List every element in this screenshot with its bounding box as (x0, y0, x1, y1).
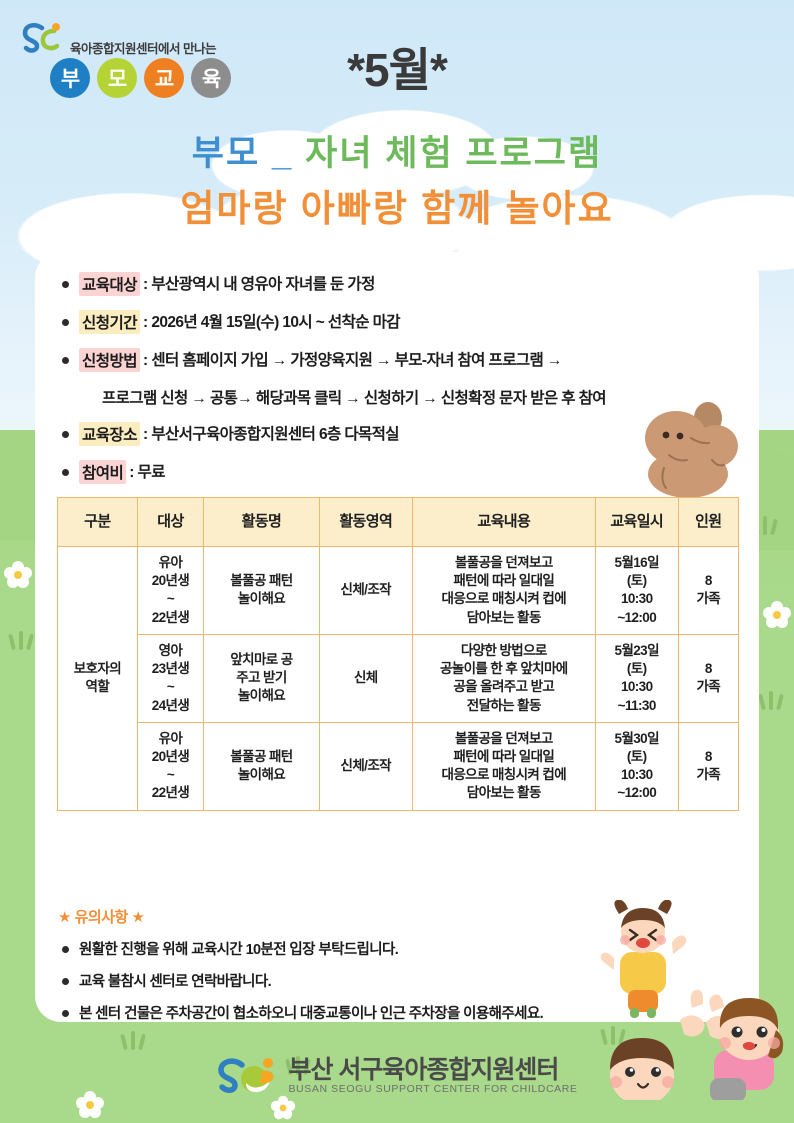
info-item-fee: 참여비 : 무료 (58, 460, 748, 484)
month-title: *5월* (0, 34, 794, 100)
th-target: 대상 (137, 498, 203, 547)
td-capacity: 8가족 (678, 547, 738, 635)
info-value: : 2026년 4월 15일(수) 10시 ~ 선착순 마감 (143, 310, 400, 332)
title-part-child: 자녀 체험 프로그램 (305, 134, 602, 173)
grass-tuft-icon (758, 690, 786, 712)
note-text: 교육 불참시 센터로 연락바랍니다. (79, 970, 271, 991)
td-activity: 볼풀공 패턴놀이해요 (204, 547, 320, 635)
th-capacity: 인원 (678, 498, 738, 547)
flower-icon (762, 600, 792, 630)
table-header-row: 구분 대상 활동명 활동영역 교육내용 교육일시 인원 (58, 498, 739, 547)
bullet-dot (62, 978, 69, 985)
bullet-dot (62, 469, 69, 476)
info-item-method: 신청방법 : 센터 홈페이지 가입 → 가정양육지원 → 부모-자녀 참여 프로… (58, 348, 748, 372)
td-group-label: 보호자의역할 (58, 547, 138, 811)
table-row: 영아23년생~24년생 앞치마로 공주고 받기놀이해요 신체 다양한 방법으로공… (58, 634, 739, 722)
program-title-line2: 엄마랑 아빠랑 함께 놀아요 (0, 178, 794, 232)
td-content: 볼풀공을 던져보고패턴에 따라 일대일대응으로 매칭시켜 컵에담아보는 활동 (412, 722, 595, 810)
info-label: 신청방법 (79, 348, 140, 372)
info-method-continuation: 프로그램 신청 → 공통→ 해당과목 클릭 → 신청하기 → 신청확정 문자 받… (102, 386, 748, 408)
info-value: : 무료 (129, 460, 165, 482)
td-activity: 앞치마로 공주고 받기놀이해요 (204, 634, 320, 722)
grass-tuft-icon (8, 630, 36, 652)
footer-sc-logo-icon (216, 1055, 278, 1097)
td-content: 다양한 방법으로공놀이를 한 후 앞치마에공을 올려주고 받고전달하는 활동 (412, 634, 595, 722)
td-capacity: 8가족 (678, 634, 738, 722)
program-title-line1: 부모 _ 자녀 체험 프로그램 (0, 125, 794, 176)
bullet-dot (62, 357, 69, 364)
td-area: 신체 (319, 634, 412, 722)
td-area: 신체/조작 (319, 547, 412, 635)
info-item-target: 교육대상 : 부산광역시 내 영유아 자녀를 둔 가정 (58, 272, 748, 296)
td-area: 신체/조작 (319, 722, 412, 810)
td-target: 유아20년생~22년생 (137, 547, 203, 635)
flower-icon (3, 560, 33, 590)
info-value: : 부산광역시 내 영유아 자녀를 둔 가정 (143, 272, 375, 294)
th-category: 구분 (58, 498, 138, 547)
note-text: 원활한 진행을 위해 교육시간 10분전 입장 부탁드립니다. (79, 938, 398, 959)
info-value: : 센터 홈페이지 가입 → 가정양육지원 → 부모-자녀 참여 프로그램 → (143, 348, 562, 370)
td-target: 유아20년생~22년생 (137, 722, 203, 810)
table-row: 유아20년생~22년생 볼풀공 패턴놀이해요 신체/조작 볼풀공을 던져보고패턴… (58, 722, 739, 810)
info-label: 교육대상 (79, 272, 140, 296)
program-table: 구분 대상 활동명 활동영역 교육내용 교육일시 인원 보호자의역할 유아20년… (57, 497, 739, 811)
th-datetime: 교육일시 (595, 498, 678, 547)
info-item-place: 교육장소 : 부산서구육아종합지원센터 6층 다목적실 (58, 422, 748, 446)
title-part-parent: 부모 _ (192, 134, 305, 173)
td-capacity: 8가족 (678, 722, 738, 810)
th-area: 활동영역 (319, 498, 412, 547)
flower-icon (270, 1095, 296, 1121)
footer-logo: 부산 서구육아종합지원센터 BUSAN SEOGU SUPPORT CENTER… (0, 1055, 794, 1097)
bullet-dot (62, 319, 69, 326)
th-content: 교육내용 (412, 498, 595, 547)
td-datetime: 5월23일(토)10:30~11:30 (595, 634, 678, 722)
info-value: : 부산서구육아종합지원센터 6층 다목적실 (143, 422, 399, 444)
bullet-dot (62, 281, 69, 288)
td-target: 영아23년생~24년생 (137, 634, 203, 722)
td-datetime: 5월30일(토)10:30~12:00 (595, 722, 678, 810)
info-item-period: 신청기간 : 2026년 4월 15일(수) 10시 ~ 선착순 마감 (58, 310, 748, 334)
td-content: 볼풀공을 던져보고패턴에 따라 일대일대응으로 매칭시켜 컵에담아보는 활동 (412, 547, 595, 635)
table-row: 보호자의역할 유아20년생~22년생 볼풀공 패턴놀이해요 신체/조작 볼풀공을… (58, 547, 739, 635)
info-label: 신청기간 (79, 310, 140, 334)
note-text: 본 센터 건물은 주차공간이 협소하오니 대중교통이나 인근 주차장을 이용해주… (79, 1002, 543, 1023)
info-label: 교육장소 (79, 422, 140, 446)
footer-text: 부산 서구육아종합지원센터 BUSAN SEOGU SUPPORT CENTER… (288, 1057, 577, 1095)
td-datetime: 5월16일(토)10:30~12:00 (595, 547, 678, 635)
bullet-dot (62, 1010, 69, 1017)
info-list: 교육대상 : 부산광역시 내 영유아 자녀를 둔 가정 신청기간 : 2026년… (58, 272, 748, 498)
th-activity: 활동명 (204, 498, 320, 547)
bullet-dot (62, 946, 69, 953)
footer-name-en: BUSAN SEOGU SUPPORT CENTER FOR CHILDCARE (288, 1083, 577, 1095)
bullet-dot (62, 431, 69, 438)
footer-name-kr: 부산 서구육아종합지원센터 (288, 1057, 577, 1083)
td-activity: 볼풀공 패턴놀이해요 (204, 722, 320, 810)
info-label: 참여비 (79, 460, 126, 484)
